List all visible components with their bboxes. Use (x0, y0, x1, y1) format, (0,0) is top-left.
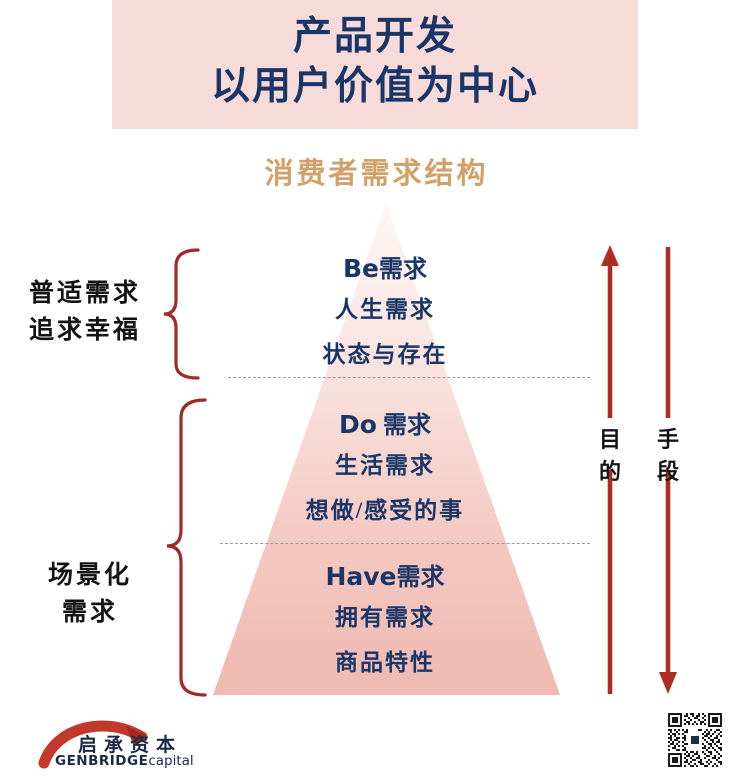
tier-have-line-3: 商品特性 (225, 640, 545, 685)
tier-be-heading: Be需求 (225, 252, 545, 287)
logo-english-name: GENBRIDGEcapital (55, 753, 194, 769)
tier-do-line-3: 想做/感受的事 (225, 488, 545, 533)
pyramid-tier-have: Have需求 拥有需求 商品特性 (225, 560, 545, 685)
logo-english-bold: GENBRIDGE (55, 753, 148, 769)
tier-do-heading-en: Do (339, 410, 377, 439)
tier-have-heading: Have需求 (225, 560, 545, 595)
brace-lower (167, 400, 205, 695)
logo-english-light: capital (148, 753, 193, 769)
tier-have-line-2: 拥有需求 (225, 595, 545, 640)
tier-do-heading-cn: 需求 (377, 413, 431, 439)
side-label-scenario-needs-line-2: 需求 (10, 594, 170, 631)
side-label-universal-needs-line-1: 普适需求 (5, 275, 165, 312)
side-label-scenario-needs: 场景化 需求 (10, 557, 170, 631)
tier-be-line-3: 状态与存在 (225, 332, 545, 377)
tier-have-heading-en: Have (325, 562, 396, 591)
pyramid-tier-do: Do 需求 生活需求 想做/感受的事 (225, 408, 545, 533)
side-label-universal-needs-line-2: 追求幸福 (5, 312, 165, 349)
brand-logo: 启承资本 GENBRIDGEcapital (30, 713, 245, 773)
qr-code[interactable] (666, 711, 724, 769)
page-title: 产品开发 以用户价值为中心 (112, 12, 638, 112)
pyramid-tier-be: Be需求 人生需求 状态与存在 (225, 252, 545, 377)
tier-divider-do-have (220, 543, 590, 544)
tier-be-heading-en: Be (343, 254, 379, 283)
page-title-line-1: 产品开发 (293, 14, 457, 59)
arrow-label-purpose-char-1: 目的 (599, 427, 621, 484)
arrow-label-means-char-1: 手段 (657, 427, 679, 484)
tier-be-heading-cn: 需求 (379, 257, 427, 283)
arrow-label-means: 手段 (655, 424, 681, 488)
tier-be-line-2: 人生需求 (225, 287, 545, 332)
side-label-scenario-needs-line-1: 场景化 (10, 557, 170, 594)
tier-do-heading: Do 需求 (225, 408, 545, 443)
tier-have-heading-cn: 需求 (397, 565, 445, 591)
tier-divider-be-do (228, 377, 590, 378)
arrow-label-purpose: 目的 (597, 424, 623, 488)
subtitle: 消费者需求结构 (0, 150, 753, 192)
page-title-line-2: 以用户价值为中心 (112, 62, 638, 112)
side-label-universal-needs: 普适需求 追求幸福 (5, 275, 165, 349)
brace-upper (164, 250, 198, 378)
tier-do-line-2: 生活需求 (225, 443, 545, 488)
